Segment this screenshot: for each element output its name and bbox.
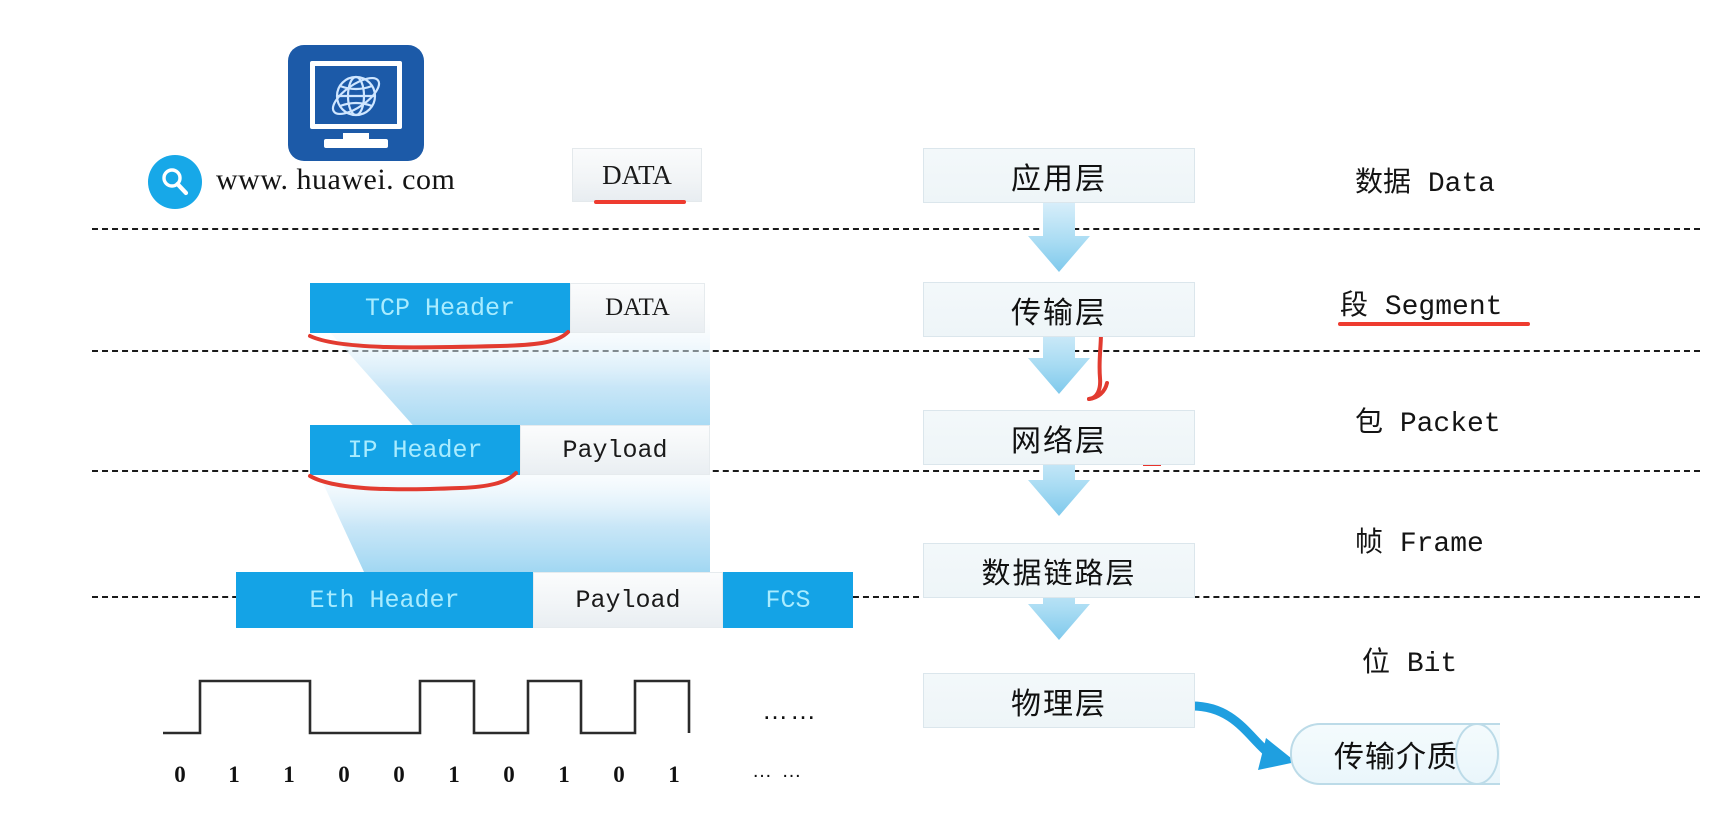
pdu-name-en: Bit [1407,649,1457,680]
pdu-cell-ip-header: IP Header [310,425,520,475]
pdu-cell-eth-header: Eth Header [236,572,533,628]
layer-physical[interactable]: 物理层 [923,673,1195,728]
layer-application[interactable]: 应用层 [923,148,1195,203]
pdu-name-cn: 包 [1355,406,1383,437]
pdu-name-packet: 包 Packet [1355,400,1501,440]
globe-glyph [318,67,394,125]
pdu-cell-tcp-header: TCP Header [310,283,570,333]
bit-label: 1 [662,762,686,788]
layer-network[interactable]: 网络层 [923,410,1195,465]
computer-globe-icon [288,45,424,161]
pdu-name-en: Packet [1400,409,1501,440]
red-underline-segment [1338,322,1530,326]
pdu-cell-payload: Payload [533,572,723,628]
pdu-name-en: Data [1428,169,1495,200]
search-icon[interactable] [148,155,202,209]
pdu-name-cn: 段 [1340,289,1368,320]
red-underline-data [594,200,686,204]
transmission-medium-label: 传输介质 [1334,732,1458,776]
layer-datalink[interactable]: 数据链路层 [923,543,1195,598]
bit-label: 0 [168,762,192,788]
pdu-name-en: Segment [1385,292,1503,323]
pdu-name-en: Frame [1400,529,1484,560]
cylinder-cap [1455,723,1499,785]
bit-waveform [163,681,689,733]
pdu-cell-data: DATA [570,283,705,333]
bit-label: 1 [277,762,301,788]
bit-label: 0 [387,762,411,788]
pdu-cell-fcs: FCS [723,572,853,628]
site-url-label: www. huawei. com [216,163,455,197]
pdu-name-cn: 位 [1362,646,1390,677]
pdu-transport: TCP Header DATA [310,283,705,333]
pdu-name-bit: 位 Bit [1362,640,1457,680]
pdu-cell-payload: Payload [520,425,710,475]
bits-trailing-dots: … … [752,760,804,783]
pdu-name-cn: 帧 [1355,526,1383,557]
pdu-name-frame: 帧 Frame [1355,520,1484,560]
pdu-application-data: DATA [572,148,702,202]
pdu-datalink: Eth Header Payload FCS [236,572,853,628]
bit-label: 1 [222,762,246,788]
bit-label: 0 [332,762,356,788]
bit-label: 1 [442,762,466,788]
pdu-network: IP Header Payload [310,425,710,475]
wave-trailing-dots: …… [762,695,818,726]
bit-label: 0 [607,762,631,788]
pdu-name-data: 数据 Data [1355,160,1495,200]
red-underline-tcp-header [300,328,600,360]
bit-label: 0 [497,762,521,788]
layer-separator [92,228,1700,230]
red-underline-ip-header [300,470,550,502]
bit-label: 1 [552,762,576,788]
pdu-name-cn: 数据 [1355,166,1411,197]
encapsulation-diagram: www. huawei. com [0,0,1723,826]
blue-curved-arrow [1192,706,1296,770]
pdu-name-segment: 段 Segment [1340,283,1502,323]
layer-transport[interactable]: 传输层 [923,282,1195,337]
